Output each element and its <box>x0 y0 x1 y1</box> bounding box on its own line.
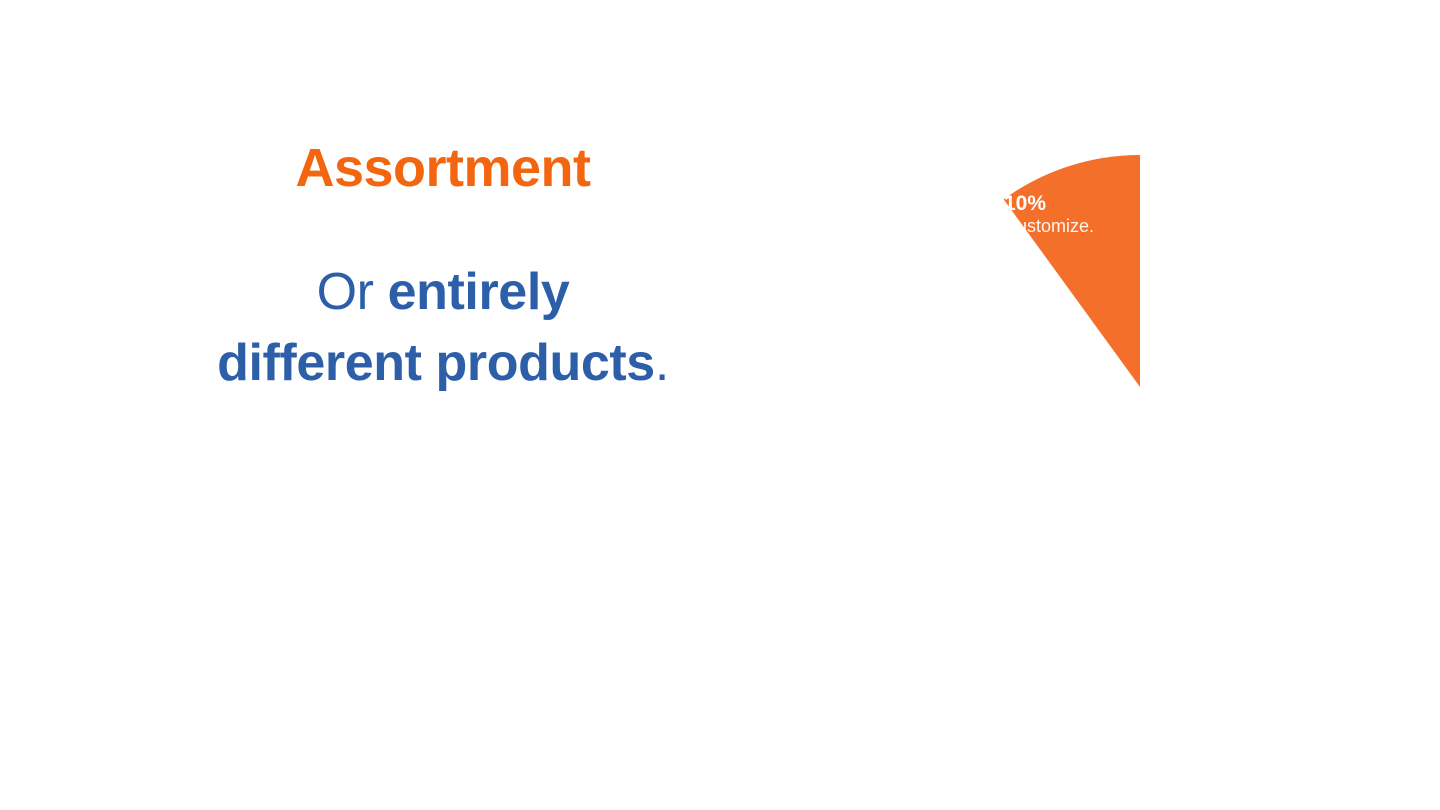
pie-chart: 10% Customize. <box>900 140 1160 410</box>
page-title: Assortment <box>100 140 786 197</box>
subhead-paragraph: Or entirelydifferent products. <box>100 197 786 401</box>
pie-slice-customize[interactable] <box>1004 155 1140 387</box>
subhead-line1-strong: entirely <box>388 263 570 321</box>
subhead-line2-period: . <box>655 334 669 392</box>
text-block: Assortment Or entirelydifferent products… <box>100 140 786 400</box>
subhead-line1-light: Or <box>317 263 388 321</box>
subhead-line2-strong: different products <box>217 334 655 392</box>
pie-chart-svg: 10% Customize. <box>900 140 1160 410</box>
pie-slice-category-label: Customize. <box>1004 216 1094 236</box>
slide-canvas: Assortment Or entirelydifferent products… <box>0 0 1440 810</box>
pie-slice-value-label: 10% <box>1004 192 1046 215</box>
